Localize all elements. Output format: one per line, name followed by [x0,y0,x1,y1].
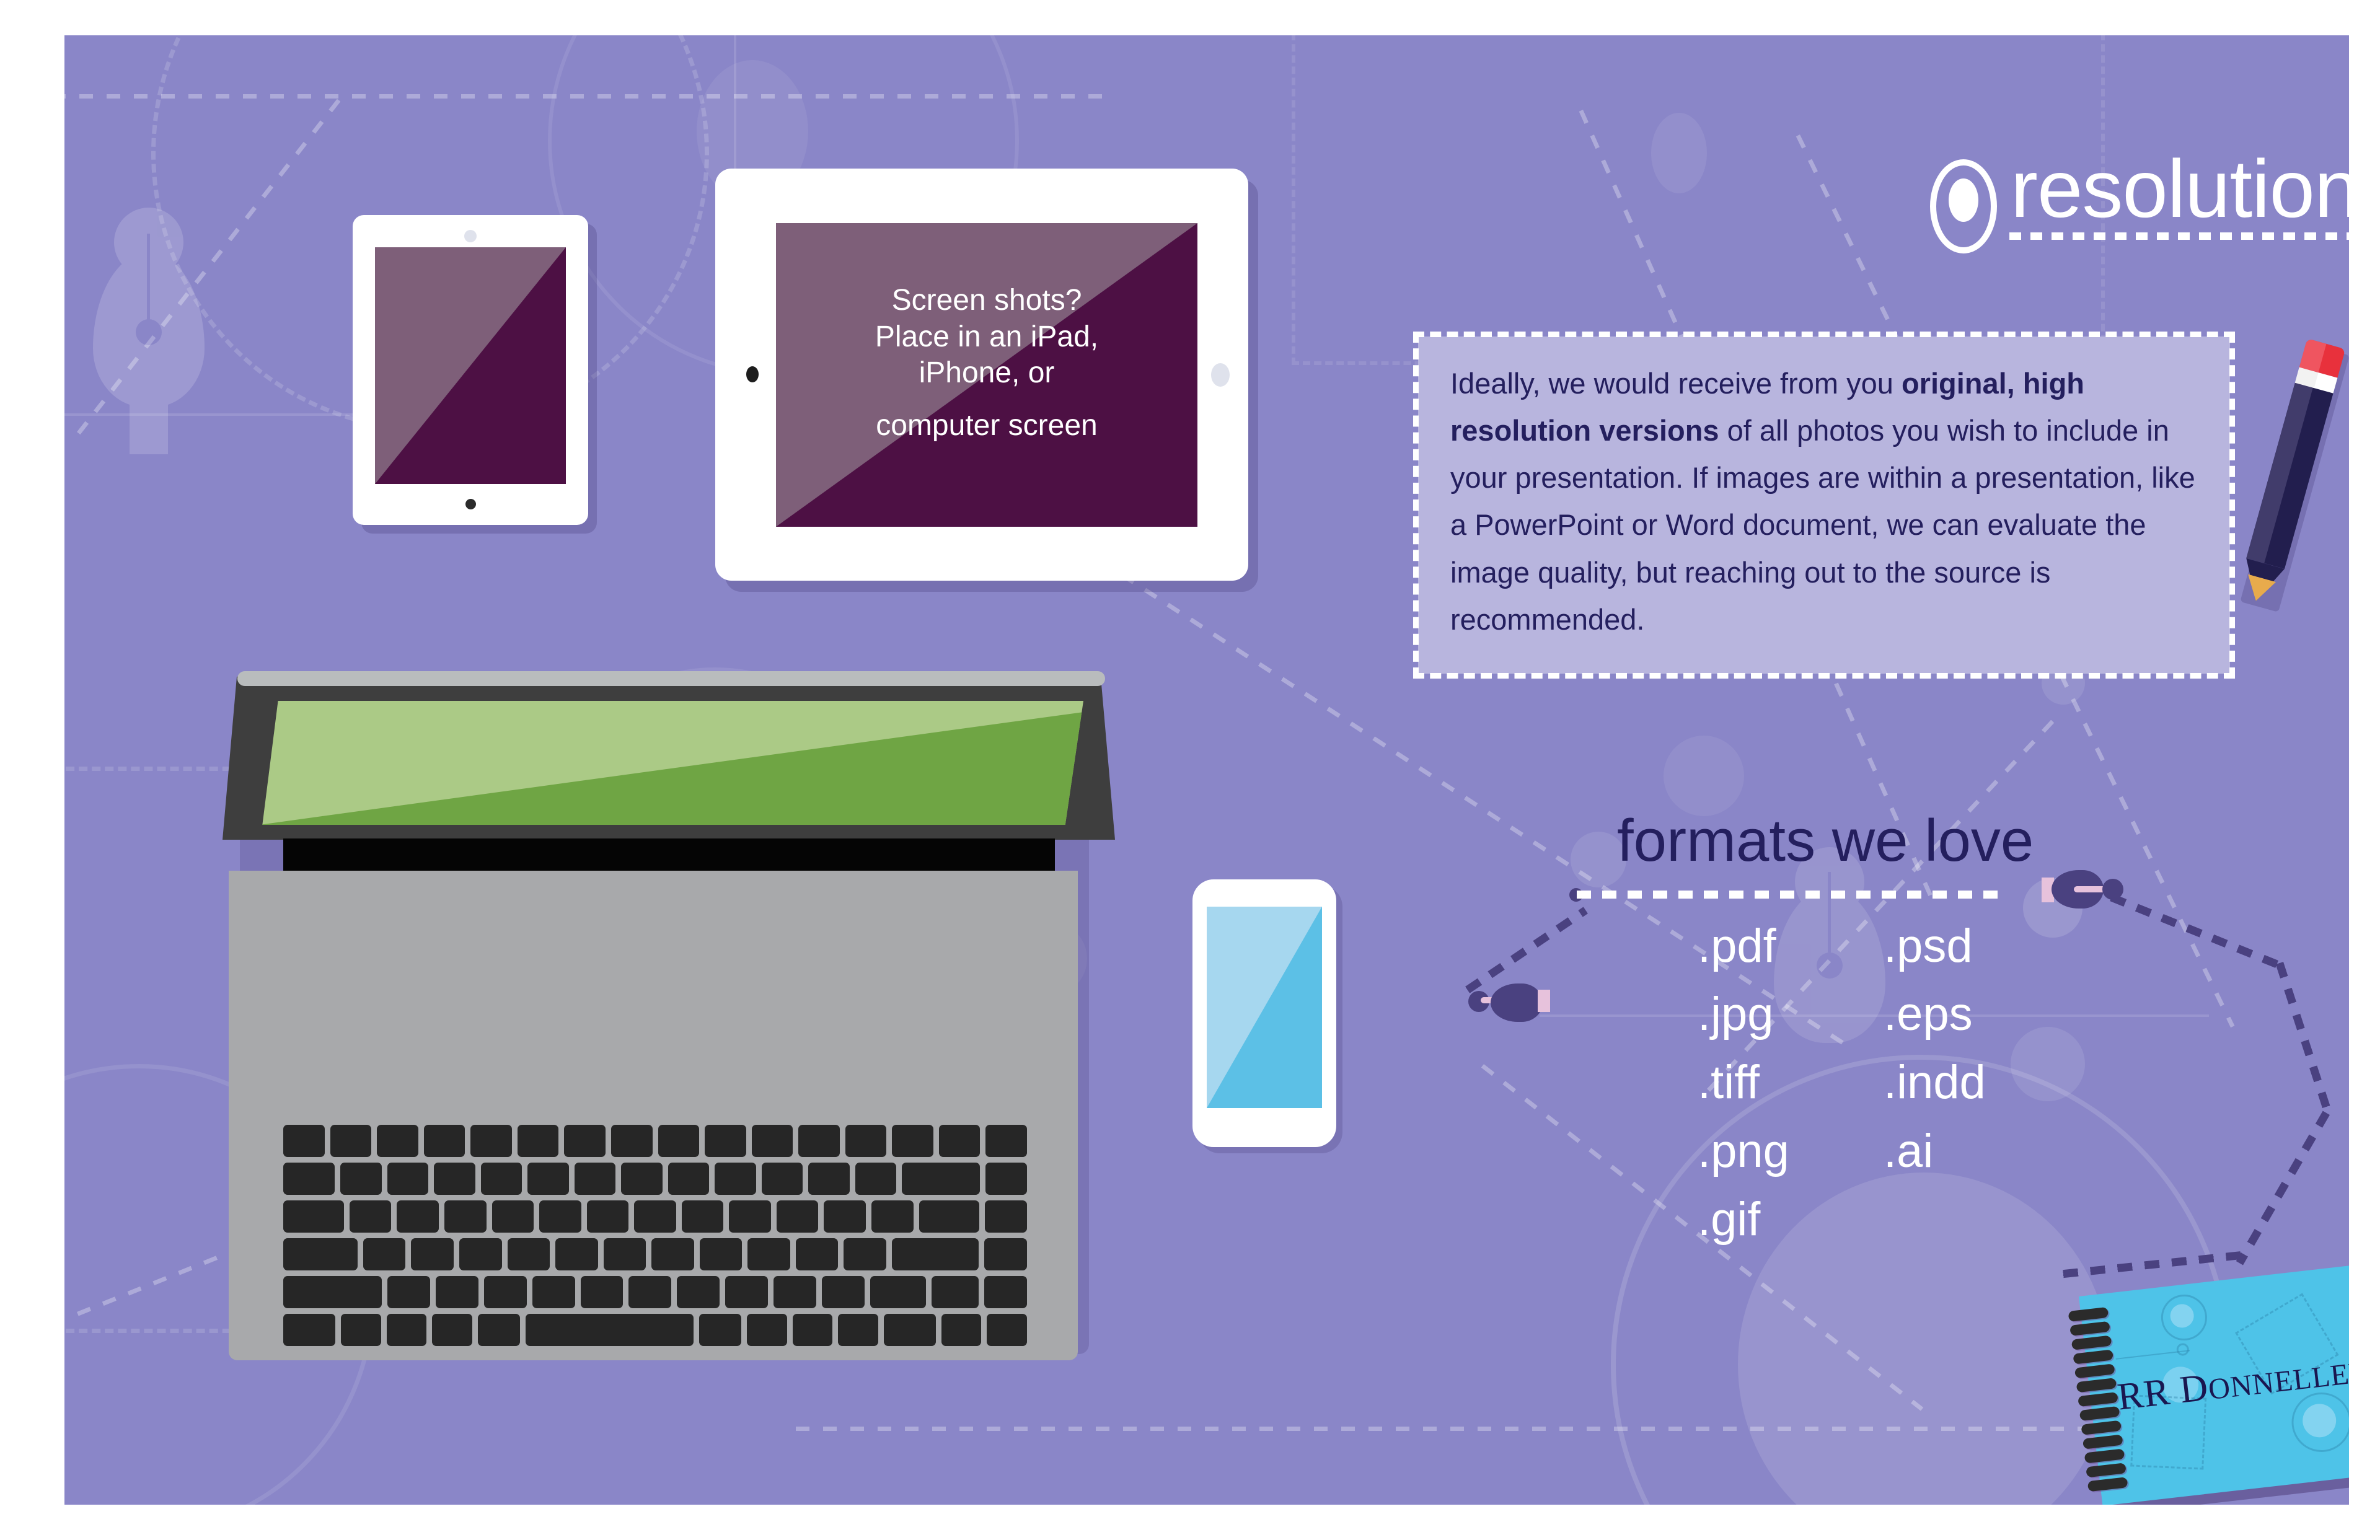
keyboard-key[interactable] [677,1276,720,1308]
keyboard-row [283,1238,1027,1270]
keyboard-key[interactable] [532,1276,575,1308]
bezier-curve-dashed [2236,1111,2330,1265]
keyboard-key[interactable] [434,1163,475,1195]
page-title: resolution [2011,148,2349,230]
keyboard-key[interactable] [387,1314,427,1346]
keyboard-key[interactable] [581,1276,624,1308]
keyboard-key[interactable] [658,1125,700,1157]
decor-dashed-line [64,94,1106,99]
keyboard-key[interactable] [845,1125,887,1157]
keyboard-key[interactable] [941,1314,982,1346]
keyboard-key[interactable] [397,1200,439,1233]
info-card-text: Ideally, we would receive from you origi… [1450,360,2208,643]
keyboard-row [283,1163,1027,1195]
keyboard-key[interactable] [611,1125,653,1157]
keyboard-key[interactable] [984,1238,1027,1270]
keyboard-key[interactable] [575,1163,616,1195]
keyboard-key[interactable] [436,1276,478,1308]
tablet-small-frame [353,215,588,525]
pen-nib-icon [1468,983,1555,1021]
keyboard-key[interactable] [855,1163,897,1195]
decor-hairline [734,35,736,190]
keyboard-key[interactable] [377,1125,418,1157]
keyboard-key[interactable] [283,1314,335,1346]
keyboard-key[interactable] [777,1200,819,1233]
keyboard-key[interactable] [870,1276,926,1308]
keyboard-key[interactable] [884,1314,936,1346]
keyboard-key[interactable] [700,1238,743,1270]
screen-gradient-shape [375,247,566,484]
bezier-curve-dashed [2110,894,2285,970]
decor-blob-large [1738,1173,2110,1505]
keyboard-key[interactable] [715,1163,756,1195]
keyboard-row [283,1200,1027,1233]
keyboard-key[interactable] [793,1314,833,1346]
keyboard-key[interactable] [939,1125,981,1157]
format-item: .png [1698,1117,1789,1186]
keyboard-key[interactable] [387,1276,430,1308]
keyboard-key[interactable] [892,1125,933,1157]
keyboard-key[interactable] [555,1238,598,1270]
format-item: .psd [1884,912,1986,980]
notebook-decor-circle [2301,1402,2338,1439]
pencil-icon [2236,338,2346,605]
keyboard-key[interactable] [539,1200,581,1233]
formats-column-left: .pdf .jpg .tiff .png .gif [1698,912,1789,1254]
keyboard-key[interactable] [283,1163,335,1195]
keyboard-key[interactable] [985,1125,1027,1157]
keyboard-key[interactable] [752,1125,793,1157]
screen-message-line: iPhone, or [776,355,1197,392]
keyboard-key[interactable] [725,1276,768,1308]
title-dashed-rule [2009,232,2349,240]
info-text-part-2: of all photos you wish to include in you… [1450,414,2195,636]
notebook-decor-circle [2169,1303,2195,1329]
tablet-large-screen: Screen shots? Place in an iPad, iPhone, … [776,223,1197,527]
keyboard-key[interactable] [628,1276,671,1308]
camera-dot-icon [746,366,759,382]
smartphone-screen [1207,907,1322,1108]
tablet-large-frame: Screen shots? Place in an iPad, iPhone, … [715,169,1248,581]
info-card: Ideally, we would receive from you origi… [1418,337,2230,674]
keyboard-key[interactable] [682,1200,724,1233]
laptop-lid-edge [237,671,1105,686]
keyboard-key[interactable] [350,1200,392,1233]
keyboard-row [283,1125,1027,1157]
formats-dashed-rule [1577,891,2004,899]
keyboard-key[interactable] [518,1125,559,1157]
keyboard-key[interactable] [902,1163,980,1195]
keyboard-key[interactable] [985,1163,1027,1195]
decor-blob [1651,113,1707,193]
tablet-small[interactable] [353,215,594,410]
screen-message-line: Screen shots? [776,283,1197,319]
keyboard-key[interactable] [492,1200,534,1233]
format-item: .indd [1884,1049,1986,1117]
keyboard-row [283,1314,1027,1346]
keyboard-key[interactable] [424,1125,465,1157]
keyboard-key[interactable] [871,1200,914,1233]
keyboard-key[interactable] [699,1314,741,1346]
keyboard-key[interactable] [363,1238,406,1270]
keyboard-key[interactable] [985,1200,1027,1233]
notebook-decor-circle [2159,1292,2210,1343]
laptop-base [229,871,1078,1360]
bezier-curve-dashed [1465,907,1588,993]
keyboard-key[interactable] [808,1163,850,1195]
keyboard-key[interactable] [651,1238,694,1270]
keyboard-key[interactable] [798,1125,840,1157]
tablet-small-screen [375,247,566,484]
keyboard-key[interactable] [587,1200,629,1233]
keyboard-key[interactable] [283,1238,358,1270]
keyboard-key[interactable] [387,1163,429,1195]
keyboard-key[interactable] [283,1125,325,1157]
keyboard-key[interactable] [822,1276,865,1308]
keyboard-key[interactable] [773,1276,816,1308]
laptop-screen [259,701,1083,825]
bezier-anchor-dot-icon [2048,1257,2065,1275]
keyboard-row [283,1276,1027,1308]
decor-hairline [1540,1014,2209,1017]
pen-nib-watermark-icon [76,190,237,537]
decor-blob [2011,1027,2085,1101]
keyboard-key[interactable] [984,1276,1027,1308]
keyboard-key[interactable] [932,1276,979,1308]
screen-message-line: computer screen [776,408,1197,444]
keyboard-key[interactable] [484,1276,527,1308]
keyboard-key[interactable] [844,1238,886,1270]
format-item: .tiff [1698,1049,1789,1117]
keyboard-key[interactable] [604,1238,646,1270]
notebook-decor-circle [2176,1342,2190,1356]
keyboard-key[interactable] [747,1314,787,1346]
format-item: .ai [1884,1117,1986,1186]
decor-dashed-line [77,90,347,434]
keyboard-key[interactable] [762,1163,803,1195]
keyboard-key[interactable] [729,1200,771,1233]
keyboard-key[interactable] [341,1314,381,1346]
keyboard-key[interactable] [621,1163,663,1195]
formats-column-right: .psd .eps .indd .ai [1884,912,1986,1186]
keyboard-key[interactable] [481,1163,522,1195]
keyboard-key[interactable] [330,1125,372,1157]
bezier-curve-dashed [2055,1251,2241,1278]
home-button-icon[interactable] [1211,363,1230,387]
camera-dot-icon [464,230,477,242]
keyboard-key[interactable] [432,1314,472,1346]
keyboard-key[interactable] [838,1314,878,1346]
smartphone-frame [1192,879,1336,1147]
keyboard-key[interactable] [747,1238,790,1270]
purple-artboard: resolution Ideally, we would receive fro… [64,35,2349,1505]
pen-nib-icon [2042,868,2128,915]
home-button-icon[interactable] [465,499,476,509]
screen-gradient-shape [259,701,1083,825]
keyboard-key[interactable] [459,1238,502,1270]
notebook-decor-line [2116,1350,2190,1360]
keyboard-key[interactable] [919,1200,980,1233]
keyboard-key[interactable] [411,1238,454,1270]
tablet-screen-message: Screen shots? Place in an iPad, iPhone, … [776,283,1197,444]
keyboard-key[interactable] [796,1238,839,1270]
screen-gradient-shape [1207,907,1322,1108]
formats-heading: formats we love [1617,807,2034,875]
keyboard-key[interactable] [892,1238,979,1270]
format-item: .jpg [1698,980,1789,1049]
keyboard-key[interactable] [340,1163,382,1195]
screen-message-line: Place in an iPad, [776,319,1197,356]
keyboard-key[interactable] [527,1163,569,1195]
keyboard-key[interactable] [526,1314,694,1346]
keyboard-key[interactable] [508,1238,550,1270]
laptop-keyboard[interactable] [283,1125,1027,1352]
format-item: .gif [1698,1186,1789,1254]
target-ring-icon [1930,159,1997,253]
keyboard-key[interactable] [478,1314,520,1346]
decor-blob [1664,736,1744,816]
format-item: .eps [1884,980,1986,1049]
info-text-part-1: Ideally, we would receive from you [1450,367,1902,400]
format-item: .pdf [1698,912,1789,980]
keyboard-key[interactable] [668,1163,710,1195]
keyboard-key[interactable] [283,1276,382,1308]
keyboard-key[interactable] [987,1314,1027,1346]
keyboard-key[interactable] [824,1200,866,1233]
page-canvas: resolution Ideally, we would receive fro… [0,0,2380,1540]
bezier-curve-dashed [2276,962,2334,1117]
keyboard-key[interactable] [634,1200,676,1233]
keyboard-key[interactable] [564,1125,606,1157]
decor-dashed-line [796,1427,2283,1431]
keyboard-key[interactable] [470,1125,512,1157]
keyboard-key[interactable] [705,1125,746,1157]
keyboard-key[interactable] [444,1200,487,1233]
keyboard-key[interactable] [283,1200,344,1233]
brand-name: RR DONNELLEY [2115,1347,2349,1420]
